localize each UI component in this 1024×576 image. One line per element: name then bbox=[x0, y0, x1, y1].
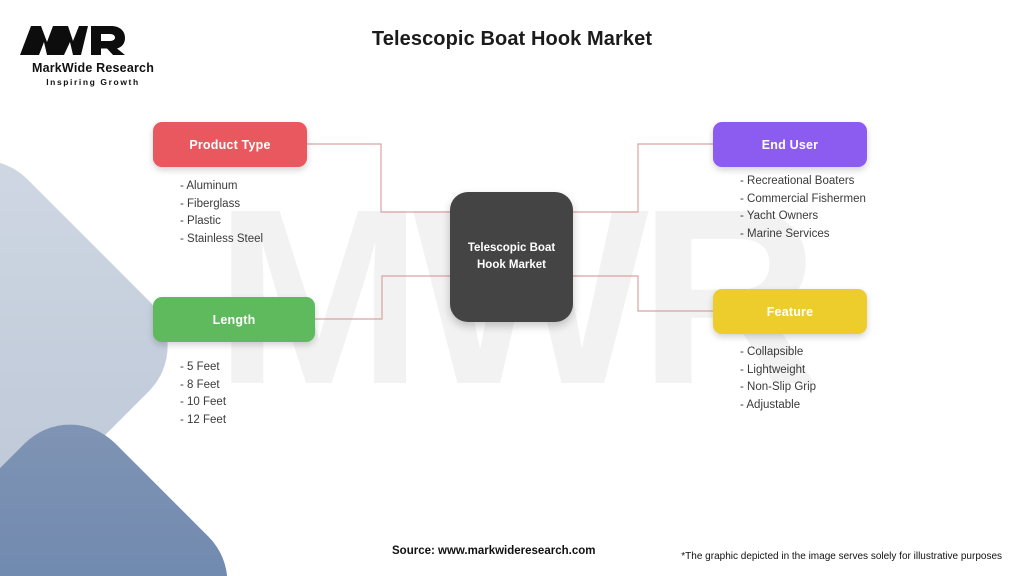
list-item: - 5 Feet bbox=[180, 359, 226, 377]
disclaimer-note: *The graphic depicted in the image serve… bbox=[681, 551, 1002, 562]
branch-node-length[interactable]: Length bbox=[153, 297, 315, 342]
list-item: - Commercial Fishermen bbox=[740, 191, 866, 209]
center-node[interactable]: Telescopic Boat Hook Market bbox=[450, 192, 573, 322]
list-item: - Plastic bbox=[180, 213, 263, 231]
list-item: - Stainless Steel bbox=[180, 231, 263, 249]
branch-node-end-user[interactable]: End User bbox=[713, 122, 867, 167]
connector-end-user bbox=[573, 144, 713, 212]
bullet-list-end-user: - Recreational Boaters - Commercial Fish… bbox=[740, 173, 866, 243]
list-item: - Recreational Boaters bbox=[740, 173, 866, 191]
list-item: - 10 Feet bbox=[180, 394, 226, 412]
list-item: - Collapsible bbox=[740, 344, 816, 362]
list-item: - Fiberglass bbox=[180, 196, 263, 214]
connector-product-type bbox=[307, 144, 450, 212]
list-item: - Aluminum bbox=[180, 178, 263, 196]
list-item: - Non-Slip Grip bbox=[740, 379, 816, 397]
bullet-list-feature: - Collapsible - Lightweight - Non-Slip G… bbox=[740, 344, 816, 414]
slide-canvas: MWR MarkWide Research Inspiring Growth T… bbox=[0, 0, 1024, 576]
list-item: - Adjustable bbox=[740, 397, 816, 415]
list-item: - Marine Services bbox=[740, 226, 866, 244]
branch-node-product-type[interactable]: Product Type bbox=[153, 122, 307, 167]
source-label: Source: www.markwideresearch.com bbox=[392, 545, 595, 557]
branch-node-feature[interactable]: Feature bbox=[713, 289, 867, 334]
list-item: - 12 Feet bbox=[180, 412, 226, 430]
list-item: - 8 Feet bbox=[180, 377, 226, 395]
bullet-list-product-type: - Aluminum - Fiberglass - Plastic - Stai… bbox=[180, 178, 263, 248]
bullet-list-length: - 5 Feet - 8 Feet - 10 Feet - 12 Feet bbox=[180, 359, 226, 429]
connector-feature bbox=[573, 276, 713, 311]
list-item: - Yacht Owners bbox=[740, 208, 866, 226]
list-item: - Lightweight bbox=[740, 362, 816, 380]
connector-length bbox=[315, 276, 450, 319]
